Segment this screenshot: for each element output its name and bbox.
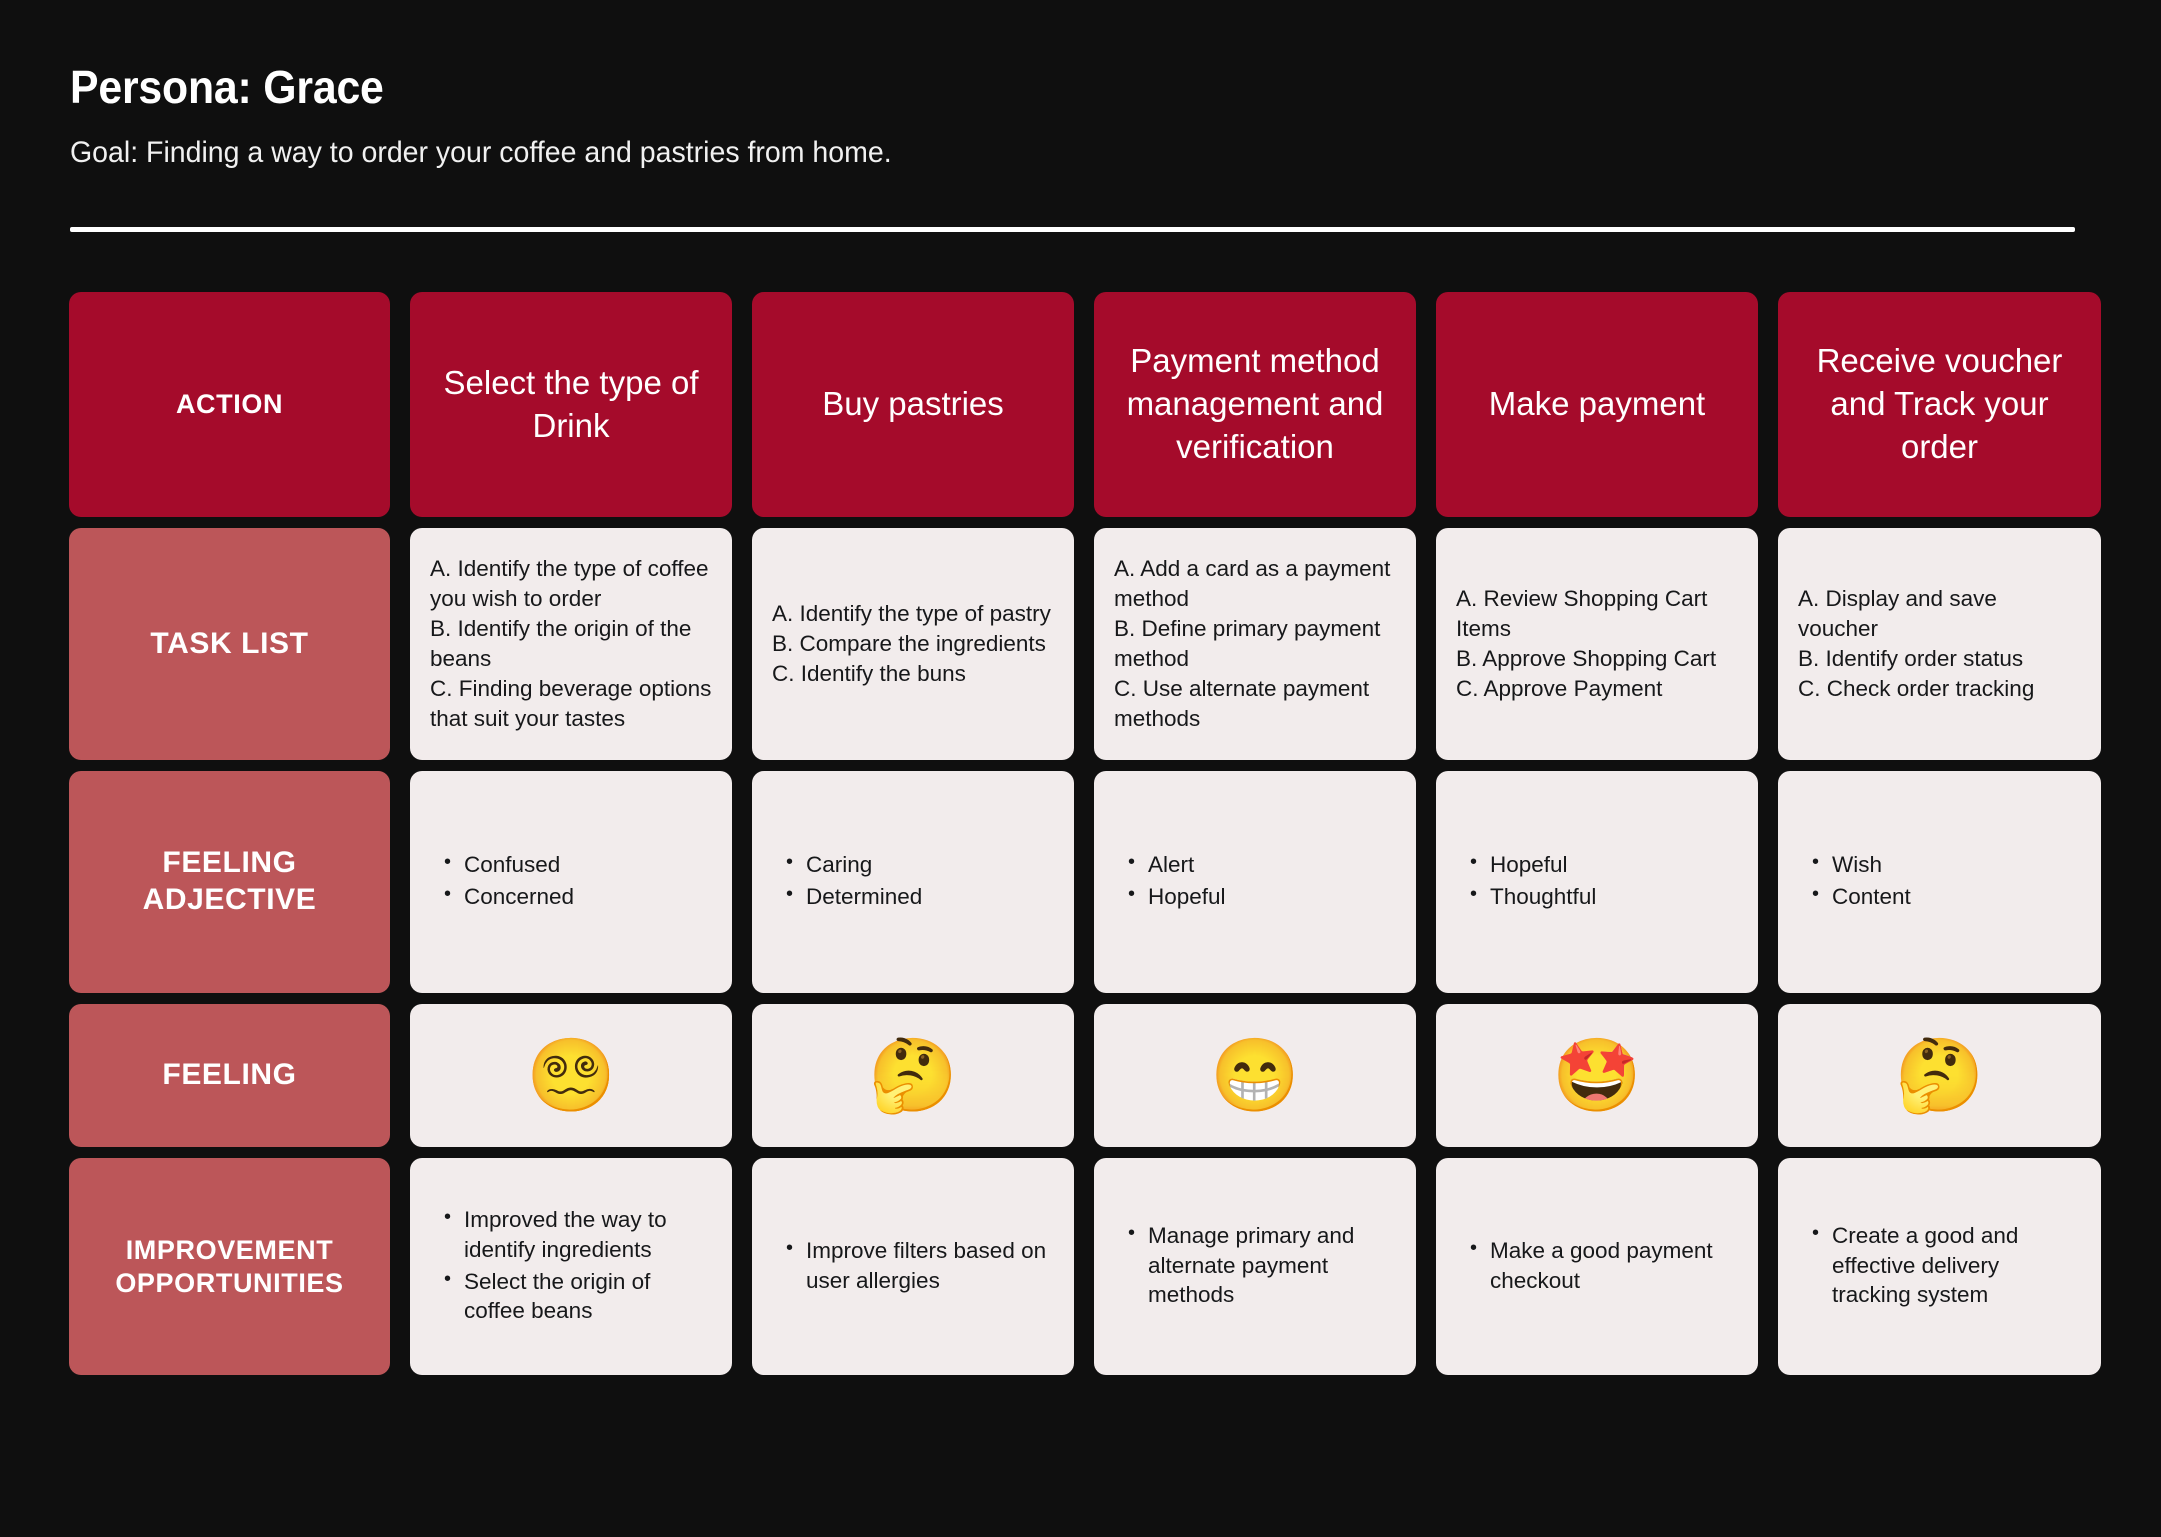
task-list-text: A. Add a card as a payment method B. Def… <box>1114 554 1396 734</box>
row-label-feeling: FEELING <box>69 1004 390 1147</box>
list-item: Select the origin of coffee beans <box>444 1267 712 1327</box>
list-item: Content <box>1812 882 2081 912</box>
task-list-text: A. Identify the type of coffee you wish … <box>430 554 712 734</box>
list-item: Thoughtful <box>1470 882 1738 912</box>
list-item: Alert <box>1128 850 1396 880</box>
dizzy-face-emoji: 😵‍💫 <box>526 1040 616 1112</box>
feeling-emoji-cell-1[interactable]: 😵‍💫 <box>410 1004 732 1147</box>
page-header: Persona: Grace Goal: Finding a way to or… <box>0 0 2161 171</box>
feeling-adjective-cell-5[interactable]: WishContent <box>1778 771 2101 993</box>
feeling-adjective-cell-4[interactable]: HopefulThoughtful <box>1436 771 1758 993</box>
row-label-task-list: TASK LIST <box>69 528 390 760</box>
task-list-cell-3[interactable]: A. Add a card as a payment method B. Def… <box>1094 528 1416 760</box>
action-cell-1[interactable]: Select the type of Drink <box>410 292 732 517</box>
row-label-improvement-opportunities: IMPROVEMENT OPPORTUNITIES <box>69 1158 390 1375</box>
action-cell-4[interactable]: Make payment <box>1436 292 1758 517</box>
task-list-cell-2[interactable]: A. Identify the type of pastry B. Compar… <box>752 528 1074 760</box>
improvement-cell-3[interactable]: Manage primary and alternate payment met… <box>1094 1158 1416 1375</box>
thinking-face-emoji: 🤔 <box>868 1040 958 1112</box>
improvement-list: Improve filters based on user allergies <box>772 1236 1054 1296</box>
list-item: Wish <box>1812 850 2081 880</box>
improvement-list: Manage primary and alternate payment met… <box>1114 1221 1396 1311</box>
list-item: Hopeful <box>1128 882 1396 912</box>
task-list-cell-1[interactable]: A. Identify the type of coffee you wish … <box>410 528 732 760</box>
task-list-text: A. Identify the type of pastry B. Compar… <box>772 599 1054 689</box>
action-cell-3[interactable]: Payment method management and verificati… <box>1094 292 1416 517</box>
feeling-adjective-list: AlertHopeful <box>1114 850 1396 912</box>
feeling-emoji-cell-2[interactable]: 🤔 <box>752 1004 1074 1147</box>
feeling-emoji-cell-5[interactable]: 🤔 <box>1778 1004 2101 1147</box>
page-title: Persona: Grace <box>70 62 2015 113</box>
feeling-adjective-list: WishContent <box>1798 850 2081 912</box>
task-list-text: A. Review Shopping Cart Items B. Approve… <box>1456 584 1738 704</box>
list-item: Make a good payment checkout <box>1470 1236 1738 1296</box>
list-item: Manage primary and alternate payment met… <box>1128 1221 1396 1311</box>
list-item: Confused <box>444 850 712 880</box>
action-cell-2[interactable]: Buy pastries <box>752 292 1074 517</box>
feeling-adjective-cell-3[interactable]: AlertHopeful <box>1094 771 1416 993</box>
header-divider <box>70 227 2075 232</box>
feeling-emoji-cell-4[interactable]: 🤩 <box>1436 1004 1758 1147</box>
persona-goal: Goal: Finding a way to order your coffee… <box>70 135 2056 171</box>
list-item: Improved the way to identify ingredients <box>444 1205 712 1265</box>
improvement-list: Make a good payment checkout <box>1456 1236 1738 1296</box>
thinking-face-emoji: 🤔 <box>1895 1040 1985 1112</box>
grinning-face-emoji: 😁 <box>1210 1040 1300 1112</box>
feeling-emoji-cell-3[interactable]: 😁 <box>1094 1004 1416 1147</box>
list-item: Determined <box>786 882 1054 912</box>
list-item: Hopeful <box>1470 850 1738 880</box>
improvement-cell-4[interactable]: Make a good payment checkout <box>1436 1158 1758 1375</box>
feeling-adjective-cell-1[interactable]: ConfusedConcerned <box>410 771 732 993</box>
improvement-cell-1[interactable]: Improved the way to identify ingredients… <box>410 1158 732 1375</box>
feeling-adjective-cell-2[interactable]: CaringDetermined <box>752 771 1074 993</box>
row-label-action: ACTION <box>69 292 390 517</box>
feeling-adjective-list: CaringDetermined <box>772 850 1054 912</box>
improvement-list: Improved the way to identify ingredients… <box>430 1205 712 1327</box>
improvement-cell-2[interactable]: Improve filters based on user allergies <box>752 1158 1074 1375</box>
feeling-adjective-list: HopefulThoughtful <box>1456 850 1738 912</box>
journey-grid: ACTION Select the type of Drink Buy past… <box>69 292 2093 1375</box>
feeling-adjective-list: ConfusedConcerned <box>430 850 712 912</box>
improvement-cell-5[interactable]: Create a good and effective delivery tra… <box>1778 1158 2101 1375</box>
list-item: Improve filters based on user allergies <box>786 1236 1054 1296</box>
persona-journey-map: Persona: Grace Goal: Finding a way to or… <box>0 0 2161 1537</box>
task-list-cell-4[interactable]: A. Review Shopping Cart Items B. Approve… <box>1436 528 1758 760</box>
improvement-list: Create a good and effective delivery tra… <box>1798 1221 2081 1311</box>
star-struck-emoji: 🤩 <box>1552 1040 1642 1112</box>
list-item: Concerned <box>444 882 712 912</box>
list-item: Create a good and effective delivery tra… <box>1812 1221 2081 1311</box>
action-cell-5[interactable]: Receive voucher and Track your order <box>1778 292 2101 517</box>
row-label-feeling-adjective: FEELING ADJECTIVE <box>69 771 390 993</box>
list-item: Caring <box>786 850 1054 880</box>
task-list-text: A. Display and save voucher B. Identify … <box>1798 584 2081 704</box>
task-list-cell-5[interactable]: A. Display and save voucher B. Identify … <box>1778 528 2101 760</box>
